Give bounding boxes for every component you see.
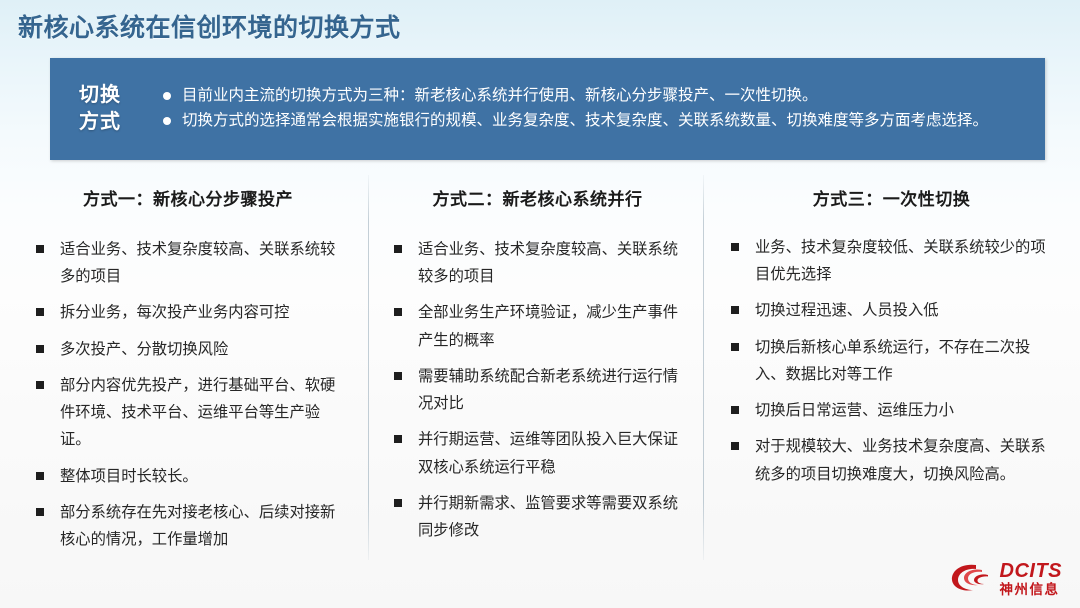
bullet-square-icon [36,345,44,353]
bullet-square-icon [36,472,44,480]
column-bullet-list: 适合业务、技术复杂度较高、关联系统较多的项目 拆分业务，每次投产业务内容可控 多… [34,236,342,553]
banner-bullet-text: 切换方式的选择通常会根据实施银行的规模、业务复杂度、技术复杂度、关联系统数量、切… [182,112,988,129]
list-item: 适合业务、技术复杂度较高、关联系统较多的项目 [34,236,342,290]
list-item-text: 部分内容优先投产，进行基础平台、软硬件环境、技术平台、运维平台等生产验证。 [60,377,335,448]
banner-label: 切换 方式 [50,82,150,136]
method-column-1: 方式一：新核心分步骤投产 适合业务、技术复杂度较高、关联系统较多的项目 拆分业务… [0,175,368,560]
list-item: 整体项目时长较长。 [34,463,342,490]
switching-methods-banner: 切换 方式 目前业内主流的切换方式为三种：新老核心系统并行使用、新核心分步骤投产… [50,58,1045,160]
list-item: 并行期新需求、监管要求等需要双系统同步修改 [392,490,683,544]
swirl-icon [949,561,993,595]
list-item: 切换后日常运营、运维压力小 [729,397,1054,424]
list-item-text: 需要辅助系统配合新老系统进行运行情况对比 [418,368,678,412]
list-item: 对于规模较大、业务技术复杂度高、关联系统多的项目切换难度大，切换风险高。 [729,433,1054,487]
list-item: 部分系统存在先对接老核心、后续对接新核心的情况，工作量增加 [34,499,342,553]
bullet-square-icon [731,243,739,251]
bullet-square-icon [394,372,402,380]
banner-bullet-text: 目前业内主流的切换方式为三种：新老核心系统并行使用、新核心分步骤投产、一次性切换… [182,87,818,104]
bullet-square-icon [731,442,739,450]
company-logo: DCITS 神州信息 [949,561,1063,597]
list-item-text: 切换后日常运营、运维压力小 [755,402,954,419]
banner-label-line-2: 方式 [50,109,150,136]
list-item-text: 切换过程迅速、人员投入低 [755,302,939,319]
bullet-square-icon [394,245,402,253]
bullet-dot-icon [163,117,171,125]
bullet-square-icon [731,306,739,314]
column-bullet-list: 适合业务、技术复杂度较高、关联系统较多的项目 全部业务生产环境验证，减少生产事件… [392,236,683,544]
page-title: 新核心系统在信创环境的切换方式 [18,8,401,44]
list-item-text: 整体项目时长较长。 [60,468,198,485]
list-item: 业务、技术复杂度较低、关联系统较少的项目优先选择 [729,234,1054,288]
banner-label-line-1: 切换 [50,82,150,109]
bullet-square-icon [394,499,402,507]
logo-text: DCITS 神州信息 [1000,561,1063,597]
bullet-square-icon [36,245,44,253]
column-title: 方式三：一次性切换 [729,185,1054,210]
column-title: 方式二：新老核心系统并行 [392,185,683,210]
banner-bullet-item: 目前业内主流的切换方式为三种：新老核心系统并行使用、新核心分步骤投产、一次性切换… [158,84,1015,108]
list-item-text: 对于规模较大、业务技术复杂度高、关联系统多的项目切换难度大，切换风险高。 [755,438,1046,482]
bullet-square-icon [394,308,402,316]
list-item: 需要辅助系统配合新老系统进行运行情况对比 [392,363,683,417]
bullet-square-icon [394,435,402,443]
list-item-text: 部分系统存在先对接老核心、后续对接新核心的情况，工作量增加 [60,504,335,548]
list-item-text: 拆分业务，每次投产业务内容可控 [60,304,289,321]
list-item-text: 全部业务生产环境验证，减少生产事件产生的概率 [418,304,678,348]
list-item-text: 业务、技术复杂度较低、关联系统较少的项目优先选择 [755,239,1046,283]
list-item: 拆分业务，每次投产业务内容可控 [34,299,342,326]
list-item-text: 适合业务、技术复杂度较高、关联系统较多的项目 [60,241,335,285]
list-item-text: 适合业务、技术复杂度较高、关联系统较多的项目 [418,241,678,285]
banner-bullet-item: 切换方式的选择通常会根据实施银行的规模、业务复杂度、技术复杂度、关联系统数量、切… [158,109,1015,133]
method-column-3: 方式三：一次性切换 业务、技术复杂度较低、关联系统较少的项目优先选择 切换过程迅… [703,175,1080,560]
banner-body: 目前业内主流的切换方式为三种：新老核心系统并行使用、新核心分步骤投产、一次性切换… [150,84,1045,134]
list-item-text: 多次投产、分散切换风险 [60,341,228,358]
list-item: 部分内容优先投产，进行基础平台、软硬件环境、技术平台、运维平台等生产验证。 [34,372,342,454]
bullet-square-icon [36,381,44,389]
bullet-dot-icon [163,92,171,100]
method-column-2: 方式二：新老核心系统并行 适合业务、技术复杂度较高、关联系统较多的项目 全部业务… [368,175,703,560]
bullet-square-icon [36,508,44,516]
list-item-text: 并行期运营、运维等团队投入巨大保证双核心系统运行平稳 [418,431,678,475]
list-item: 并行期运营、运维等团队投入巨大保证双核心系统运行平稳 [392,426,683,480]
bullet-square-icon [731,406,739,414]
methods-columns: 方式一：新核心分步骤投产 适合业务、技术复杂度较高、关联系统较多的项目 拆分业务… [0,175,1080,560]
bullet-square-icon [36,308,44,316]
list-item: 适合业务、技术复杂度较高、关联系统较多的项目 [392,236,683,290]
list-item-text: 切换后新核心单系统运行，不存在二次投入、数据比对等工作 [755,339,1030,383]
bullet-square-icon [731,343,739,351]
list-item: 全部业务生产环境验证，减少生产事件产生的概率 [392,299,683,353]
logo-subtitle: 神州信息 [1000,583,1063,597]
logo-name: DCITS [1000,560,1063,582]
list-item: 多次投产、分散切换风险 [34,336,342,363]
column-title: 方式一：新核心分步骤投产 [34,185,342,210]
list-item: 切换过程迅速、人员投入低 [729,297,1054,324]
list-item-text: 并行期新需求、监管要求等需要双系统同步修改 [418,495,678,539]
column-bullet-list: 业务、技术复杂度较低、关联系统较少的项目优先选择 切换过程迅速、人员投入低 切换… [729,234,1054,488]
list-item: 切换后新核心单系统运行，不存在二次投入、数据比对等工作 [729,334,1054,388]
